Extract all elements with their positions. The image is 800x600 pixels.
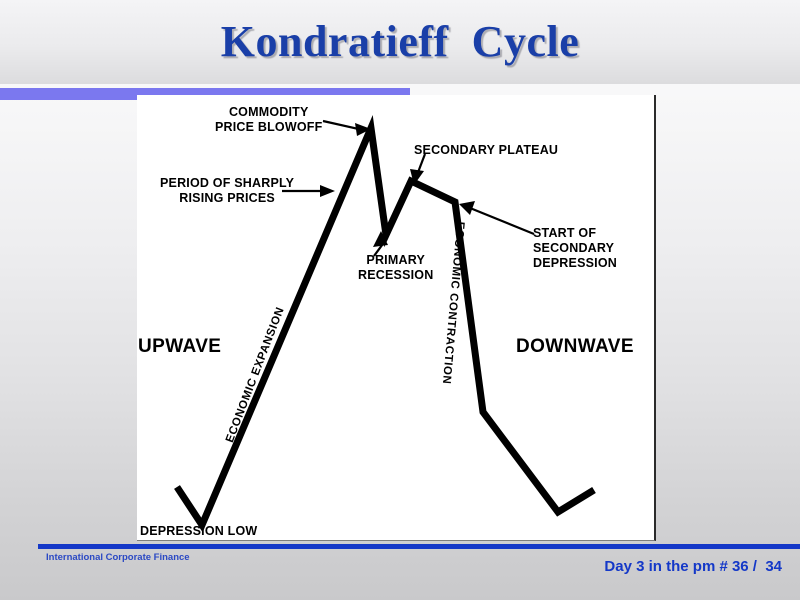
- label-period-of-sharply-rising-prices: PERIOD OF SHARPLY RISING PRICES: [160, 176, 294, 206]
- label-upwave: UPWAVE: [138, 336, 221, 358]
- footer-course-label: International Corporate Finance: [46, 552, 190, 563]
- leader-start-secondary-depression: [459, 201, 534, 234]
- label-depression-low: DEPRESSION LOW: [140, 524, 257, 539]
- label-secondary-plateau: SECONDARY PLATEAU: [414, 143, 558, 158]
- slide-canvas: Kondratieff Cycle: [0, 0, 800, 600]
- label-start-of-secondary-depression: START OF SECONDARY DEPRESSION: [533, 226, 617, 270]
- footer-divider: [38, 544, 800, 549]
- title-band: Kondratieff Cycle: [0, 0, 800, 84]
- label-downwave: DOWNWAVE: [516, 336, 634, 358]
- footer-slide-counter: Day 3 in the pm # 36 / 34: [604, 558, 782, 575]
- kondratieff-wave-svg: [137, 95, 656, 541]
- kondratieff-cycle-chart: [137, 95, 656, 541]
- leader-commodity-blowoff: [323, 121, 371, 136]
- label-commodity-price-blowoff: COMMODITY PRICE BLOWOFF: [215, 105, 322, 135]
- label-primary-recession: PRIMARY RECESSION: [358, 253, 433, 283]
- page-title: Kondratieff Cycle: [0, 16, 800, 67]
